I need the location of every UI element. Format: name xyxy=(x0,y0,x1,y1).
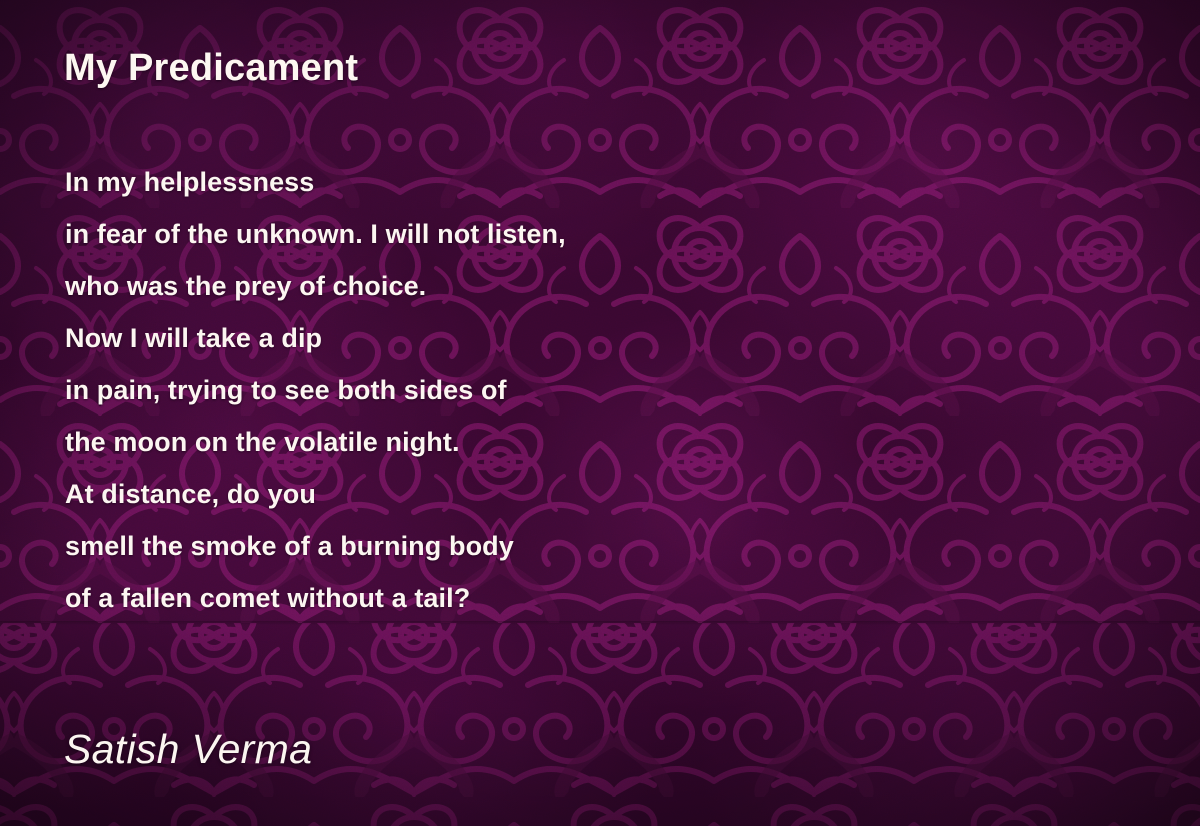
poem-author: Satish Verma xyxy=(64,728,312,771)
poem-card: My Predicament In my helplessness in fea… xyxy=(0,0,1200,826)
poem-line: of a fallen comet without a tail? xyxy=(65,572,566,624)
poem-line: in fear of the unknown. I will not liste… xyxy=(65,208,566,260)
poem-line: Now I will take a dip xyxy=(65,312,566,364)
poem-body: In my helplessness in fear of the unknow… xyxy=(65,156,566,624)
poem-title: My Predicament xyxy=(64,48,358,90)
poem-line: the moon on the volatile night. xyxy=(65,416,566,468)
poem-line: in pain, trying to see both sides of xyxy=(65,364,566,416)
poem-line: In my helplessness xyxy=(65,156,566,208)
poem-line: smell the smoke of a burning body xyxy=(65,520,566,572)
poem-line: At distance, do you xyxy=(65,468,566,520)
poem-line: who was the prey of choice. xyxy=(65,260,566,312)
poem-content: My Predicament In my helplessness in fea… xyxy=(0,0,1200,826)
